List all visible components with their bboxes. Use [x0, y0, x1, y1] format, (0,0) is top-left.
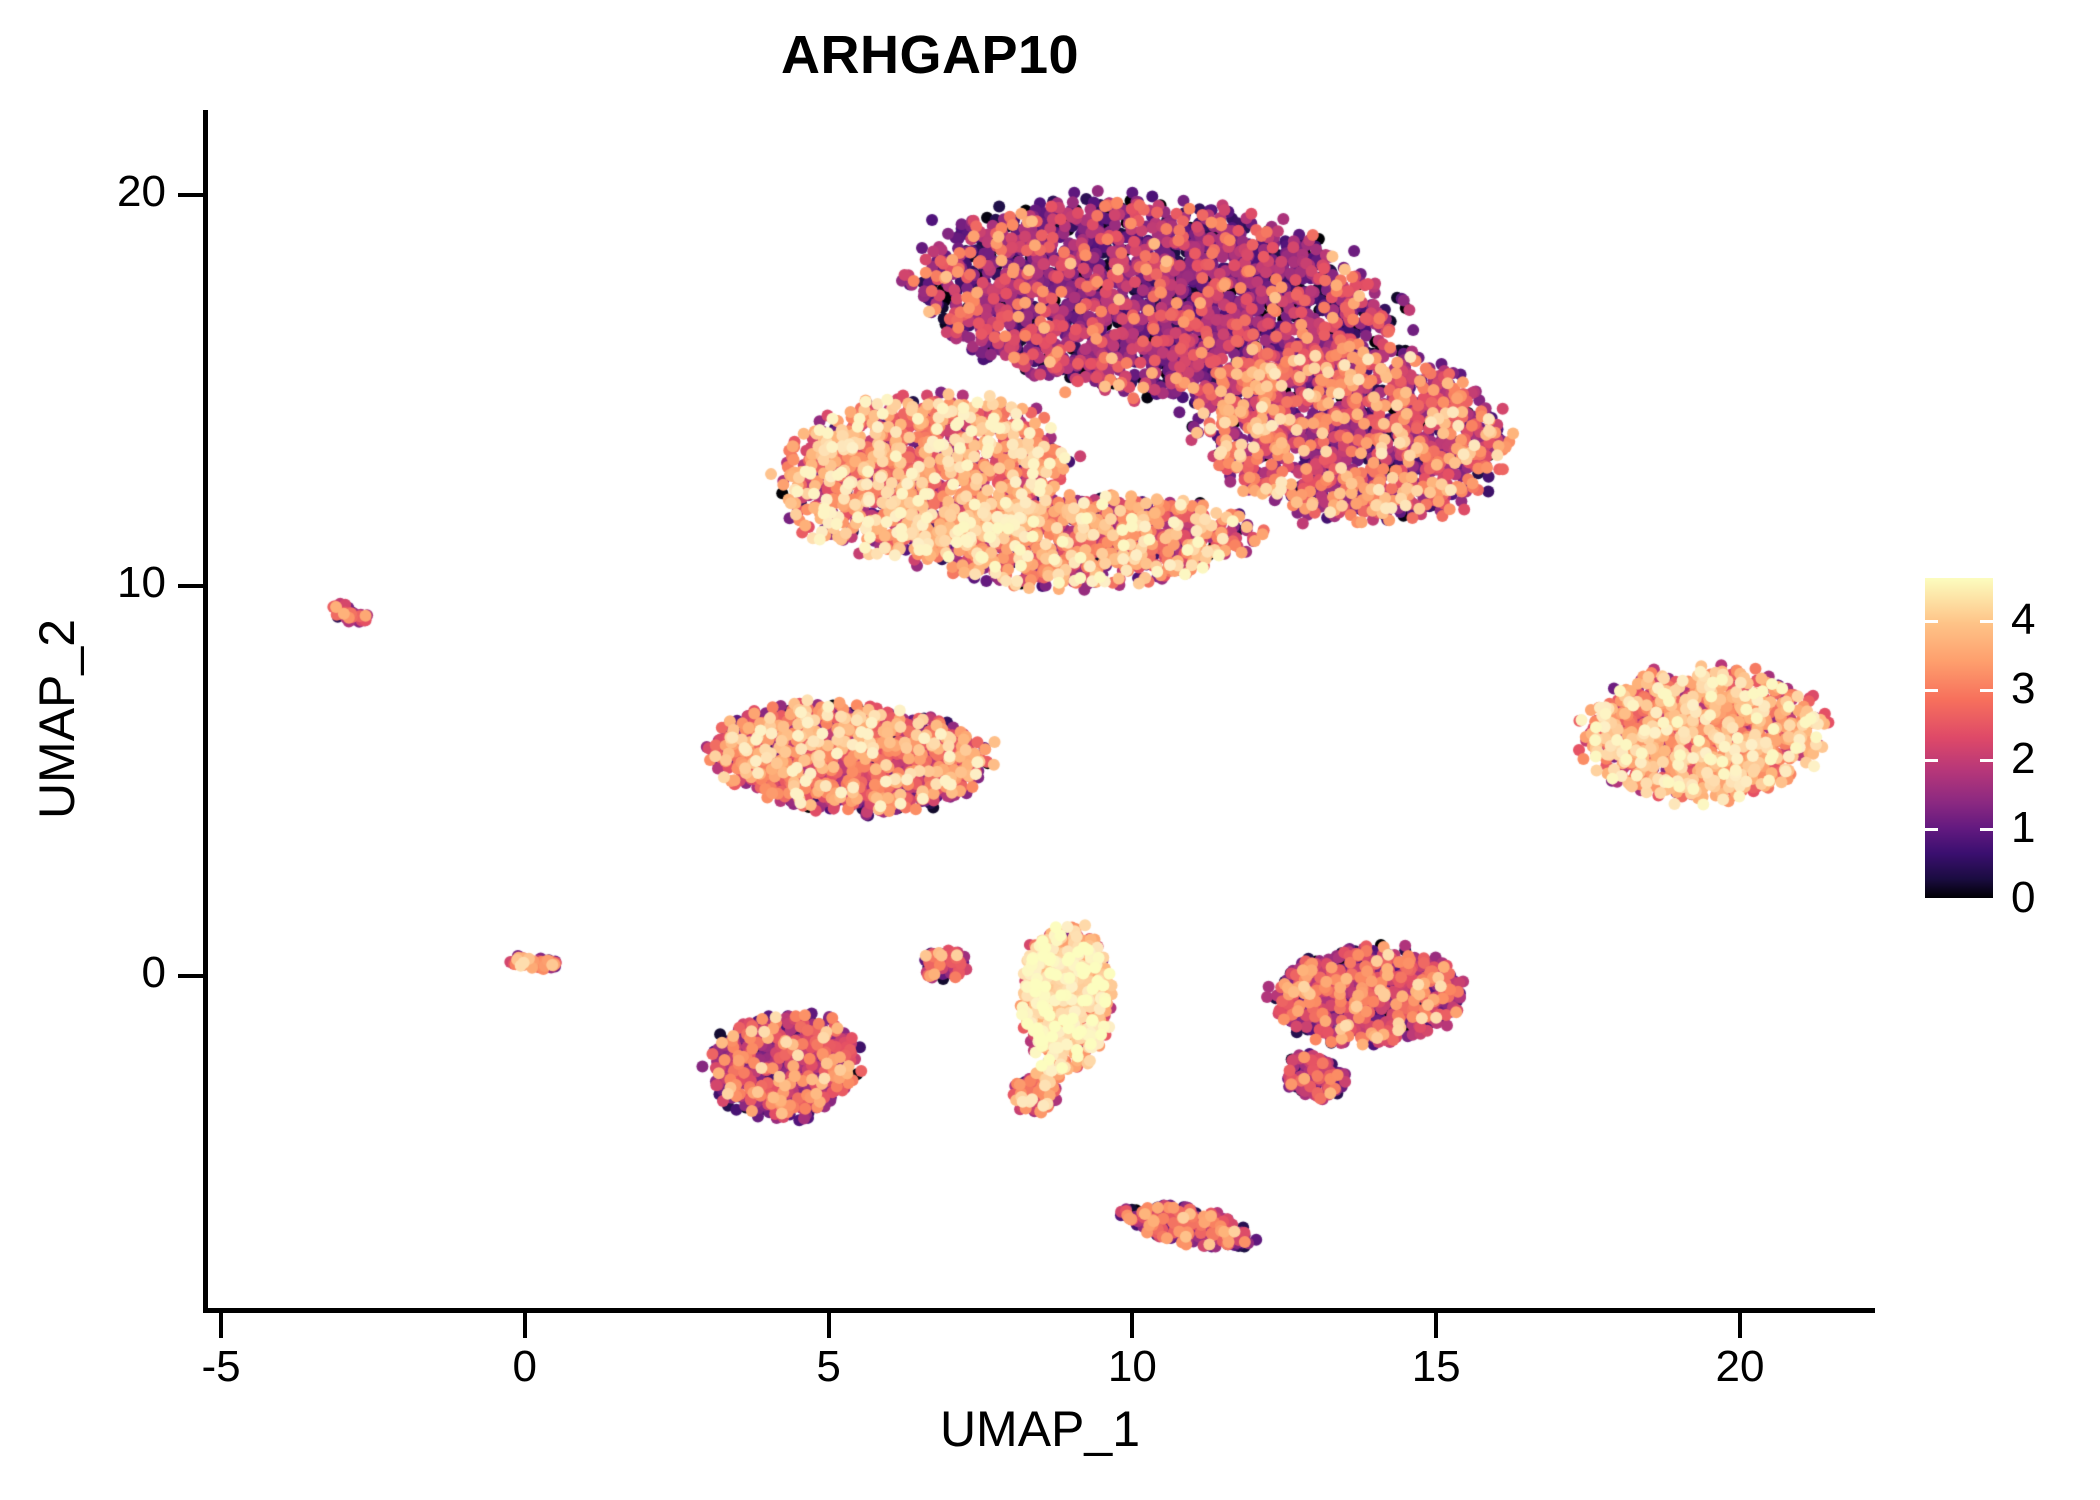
- colorbar-tick-0-left: [1925, 898, 1938, 901]
- colorbar-legend: 43210: [1925, 578, 2085, 903]
- feature-plot-figure: ARHGAP10 20100 -505101520 UMAP_1 UMAP_2 …: [0, 0, 2100, 1500]
- colorbar-tick-1-left: [1925, 828, 1938, 831]
- colorbar-tick-1-right: [1980, 828, 1993, 831]
- x-ticklabel-10: 10: [1108, 1342, 1157, 1392]
- colorbar-tick-4-left: [1925, 620, 1938, 623]
- y-axis-line: [203, 110, 208, 1312]
- x-tick-20: [1738, 1312, 1742, 1338]
- colorbar-ticklabel-2: 2: [2011, 734, 2035, 784]
- colorbar-tick-3-left: [1925, 689, 1938, 692]
- x-axis-title: UMAP_1: [205, 1400, 1875, 1458]
- colorbar-gradient: [1925, 578, 1993, 898]
- y-tick-0: [178, 974, 205, 978]
- x-tick-0: [523, 1312, 527, 1338]
- x-ticklabel-15: 15: [1412, 1342, 1461, 1392]
- x-tick--5: [219, 1312, 223, 1338]
- colorbar-ticklabel-1: 1: [2011, 803, 2035, 853]
- colorbar-ticklabel-0: 0: [2011, 873, 2035, 923]
- x-tick-10: [1130, 1312, 1134, 1338]
- x-ticklabel-20: 20: [1716, 1342, 1765, 1392]
- colorbar-tick-0-right: [1980, 898, 1993, 901]
- x-tick-15: [1434, 1312, 1438, 1338]
- y-axis-title: UMAP_2: [28, 119, 86, 1319]
- y-ticklabel-0: 0: [142, 948, 166, 998]
- x-ticklabel-5: 5: [816, 1342, 840, 1392]
- colorbar-ticklabel-3: 3: [2011, 664, 2035, 714]
- page-title: ARHGAP10: [0, 24, 1860, 86]
- colorbar-tick-3-right: [1980, 689, 1993, 692]
- y-tick-20: [178, 193, 205, 197]
- x-ticklabel--5: -5: [201, 1342, 240, 1392]
- colorbar-tick-2-right: [1980, 759, 1993, 762]
- scatter-plot-panel: [205, 110, 1873, 1310]
- x-tick-5: [827, 1312, 831, 1338]
- x-axis-line: [203, 1308, 1875, 1313]
- y-tick-10: [178, 584, 205, 588]
- y-ticklabel-20: 20: [117, 167, 166, 217]
- colorbar-tick-2-left: [1925, 759, 1938, 762]
- umap-scatter-points: [205, 110, 1873, 1310]
- colorbar-tick-4-right: [1980, 620, 1993, 623]
- colorbar-ticklabel-4: 4: [2011, 595, 2035, 645]
- y-ticklabel-10: 10: [117, 558, 166, 608]
- x-ticklabel-0: 0: [513, 1342, 537, 1392]
